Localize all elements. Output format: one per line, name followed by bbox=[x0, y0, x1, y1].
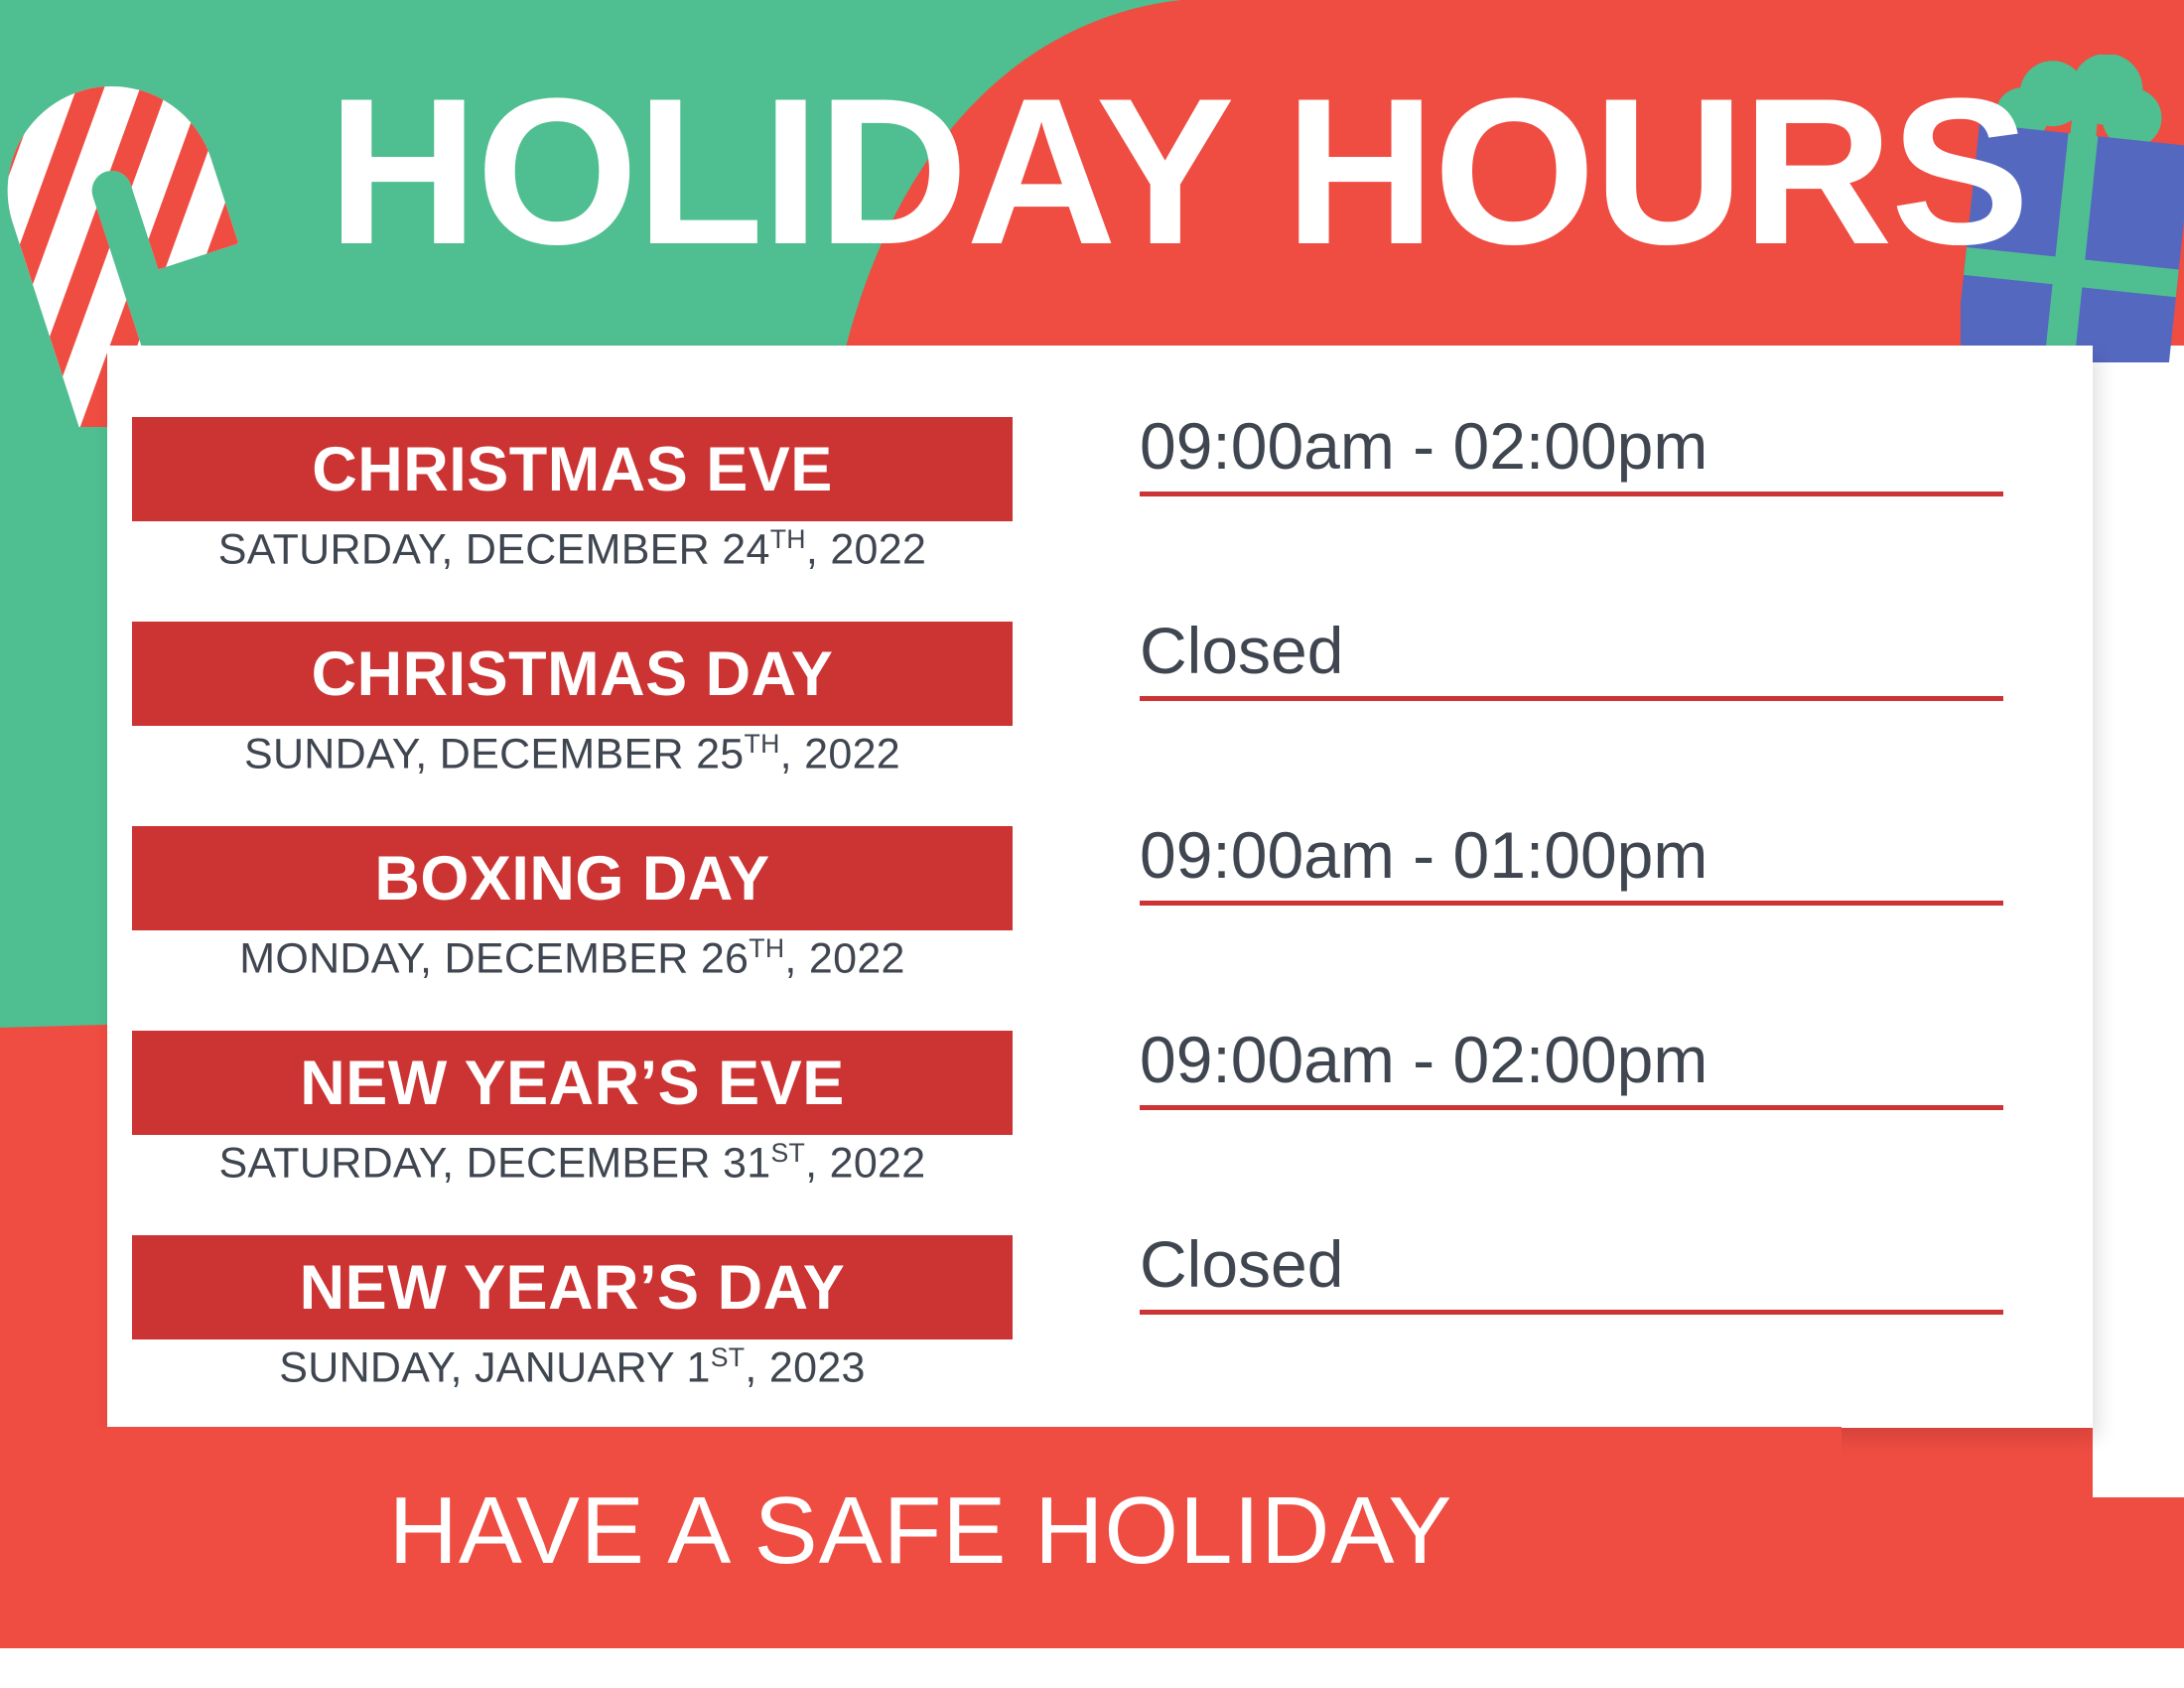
hours-cell: 09:00am - 02:00pm bbox=[1140, 1019, 2003, 1110]
holiday-date-suffix: , 2022 bbox=[784, 934, 904, 982]
holiday-date: SUNDAY, DECEMBER 25TH, 2022 bbox=[132, 729, 1013, 778]
holiday-date-ordinal: TH bbox=[745, 729, 780, 759]
page-title: HOLIDAY HOURS bbox=[328, 68, 1916, 276]
background-white-right bbox=[2093, 346, 2184, 1497]
holiday-date-ordinal: TH bbox=[749, 933, 784, 963]
hours-underline bbox=[1140, 901, 2003, 906]
schedule-row: CHRISTMAS DAYSUNDAY, DECEMBER 25TH, 2022… bbox=[107, 622, 2093, 826]
holiday-date: SATURDAY, DECEMBER 31ST, 2022 bbox=[132, 1138, 1013, 1188]
hours-value: 09:00am - 02:00pm bbox=[1140, 405, 2003, 488]
holiday-date: SUNDAY, JANUARY 1ST, 2023 bbox=[132, 1342, 1013, 1392]
holiday-name-band: BOXING DAY bbox=[132, 826, 1013, 930]
hours-value: Closed bbox=[1140, 1223, 2003, 1306]
holiday-date-suffix: , 2022 bbox=[780, 730, 900, 777]
hours-cell: 09:00am - 02:00pm bbox=[1140, 405, 2003, 496]
holiday-name: CHRISTMAS EVE bbox=[312, 434, 833, 505]
schedule-row: NEW YEAR’S DAYSUNDAY, JANUARY 1ST, 2023C… bbox=[107, 1235, 2093, 1440]
hours-underline bbox=[1140, 696, 2003, 701]
holiday-name: BOXING DAY bbox=[374, 843, 769, 914]
hours-cell: Closed bbox=[1140, 1223, 2003, 1315]
bottom-white-strip bbox=[0, 1648, 2184, 1688]
holiday-hours-poster: HOLIDAY HOURS CHRISTMAS EVESATURDAY, DEC… bbox=[0, 0, 2184, 1688]
holiday-name-band: NEW YEAR’S EVE bbox=[132, 1031, 1013, 1135]
hours-underline bbox=[1140, 1310, 2003, 1315]
holiday-date-prefix: SUNDAY, DECEMBER 25 bbox=[244, 730, 745, 777]
holiday-date-prefix: SATURDAY, DECEMBER 31 bbox=[219, 1139, 771, 1187]
hours-value: 09:00am - 02:00pm bbox=[1140, 1019, 2003, 1101]
hours-underline bbox=[1140, 492, 2003, 496]
schedule-row: CHRISTMAS EVESATURDAY, DECEMBER 24TH, 20… bbox=[107, 417, 2093, 622]
holiday-date-suffix: , 2022 bbox=[805, 1139, 925, 1187]
hours-cell: 09:00am - 01:00pm bbox=[1140, 814, 2003, 906]
tagline: HAVE A SAFE HOLIDAY bbox=[0, 1477, 1842, 1586]
holiday-name-band: NEW YEAR’S DAY bbox=[132, 1235, 1013, 1339]
holiday-date-ordinal: ST bbox=[770, 1138, 805, 1168]
schedule-row: BOXING DAYMONDAY, DECEMBER 26TH, 202209:… bbox=[107, 826, 2093, 1031]
holiday-date: SATURDAY, DECEMBER 24TH, 2022 bbox=[132, 524, 1013, 574]
holiday-date-prefix: SUNDAY, JANUARY 1 bbox=[279, 1343, 710, 1391]
holiday-date-prefix: SATURDAY, DECEMBER 24 bbox=[218, 525, 770, 573]
holiday-date-ordinal: ST bbox=[711, 1342, 746, 1372]
hours-value: 09:00am - 01:00pm bbox=[1140, 814, 2003, 897]
holiday-name: NEW YEAR’S DAY bbox=[300, 1252, 846, 1324]
hours-cell: Closed bbox=[1140, 610, 2003, 701]
holiday-name: CHRISTMAS DAY bbox=[312, 638, 834, 710]
holiday-date-prefix: MONDAY, DECEMBER 26 bbox=[239, 934, 749, 982]
schedule-card: CHRISTMAS EVESATURDAY, DECEMBER 24TH, 20… bbox=[107, 346, 2093, 1428]
hours-value: Closed bbox=[1140, 610, 2003, 692]
holiday-date: MONDAY, DECEMBER 26TH, 2022 bbox=[132, 933, 1013, 983]
schedule-row: NEW YEAR’S EVESATURDAY, DECEMBER 31ST, 2… bbox=[107, 1031, 2093, 1235]
holiday-date-suffix: , 2023 bbox=[745, 1343, 865, 1391]
hours-underline bbox=[1140, 1105, 2003, 1110]
holiday-date-suffix: , 2022 bbox=[806, 525, 926, 573]
holiday-date-ordinal: TH bbox=[770, 524, 806, 554]
holiday-name-band: CHRISTMAS EVE bbox=[132, 417, 1013, 521]
schedule-list: CHRISTMAS EVESATURDAY, DECEMBER 24TH, 20… bbox=[107, 346, 2093, 1428]
holiday-name: NEW YEAR’S EVE bbox=[300, 1048, 844, 1119]
holiday-name-band: CHRISTMAS DAY bbox=[132, 622, 1013, 726]
